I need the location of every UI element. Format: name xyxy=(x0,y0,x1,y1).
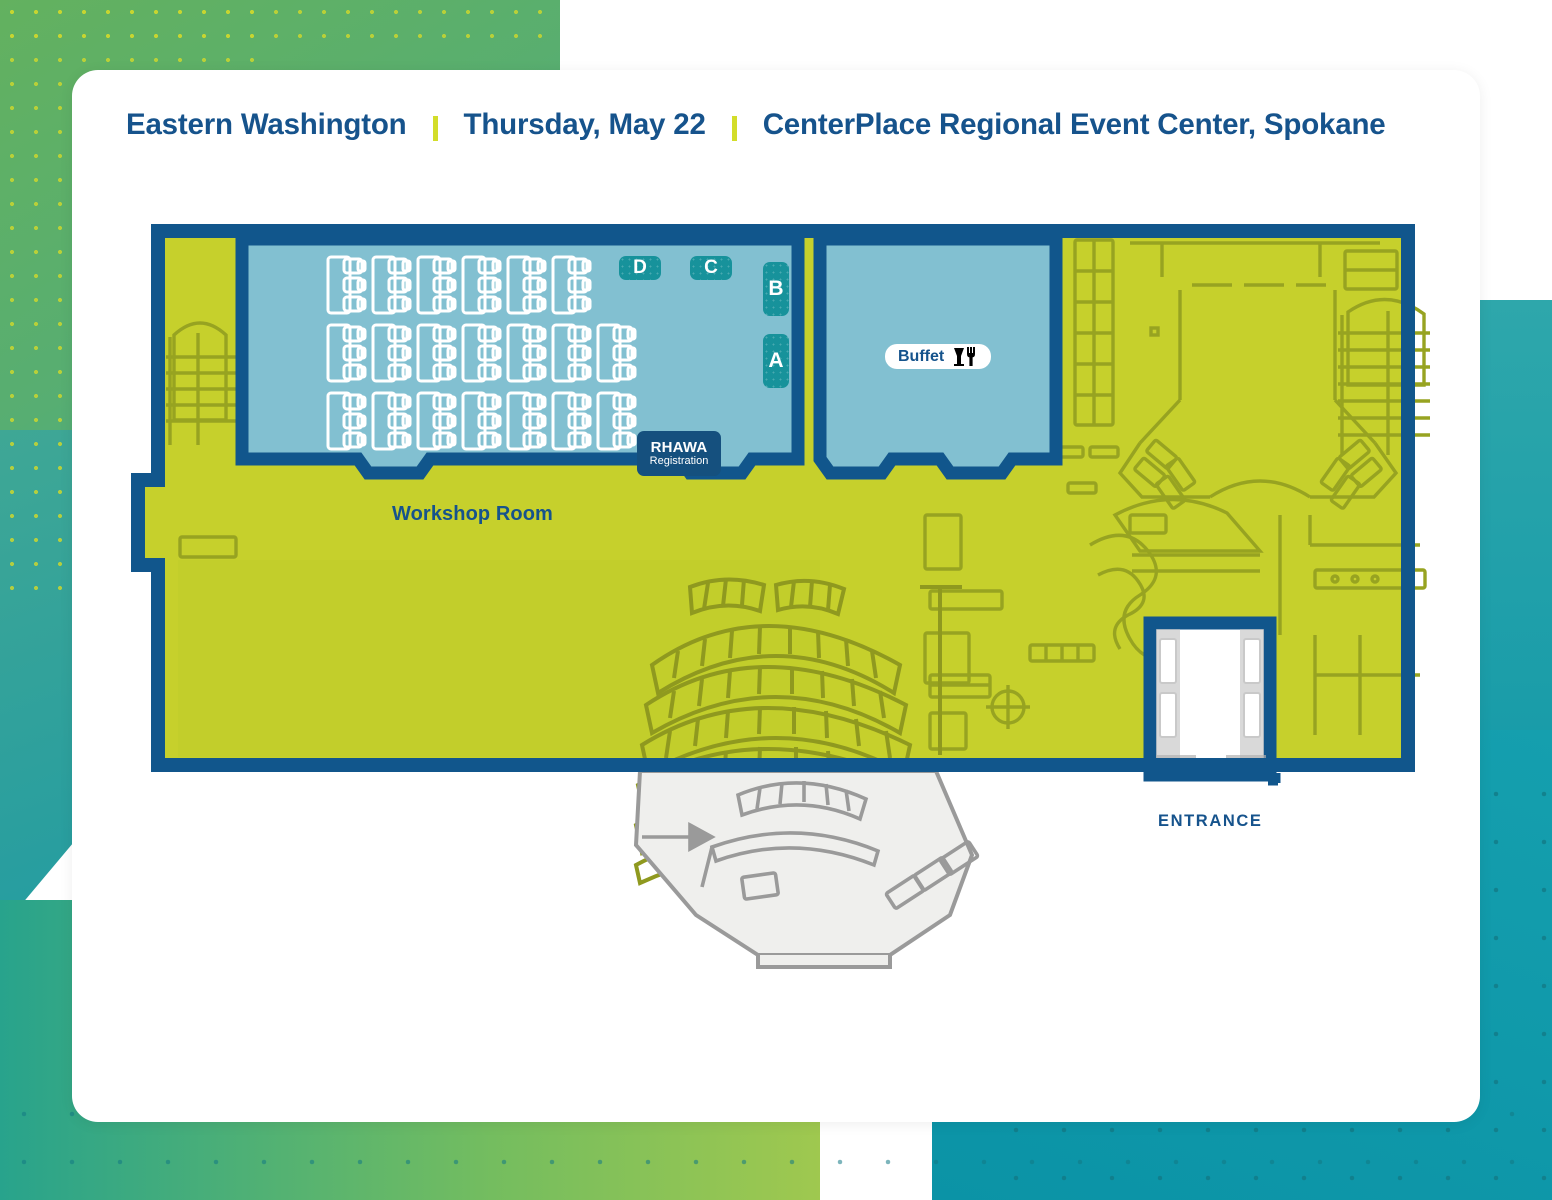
page-title: Eastern Washington Thursday, May 22 Cent… xyxy=(124,108,1387,142)
floor-plan-svg xyxy=(130,215,1430,975)
registration-org: RHAWA xyxy=(651,440,708,456)
header-region: Eastern Washington xyxy=(124,108,409,142)
buffet-marker[interactable]: Buffet xyxy=(885,344,991,369)
floor-plan: D C B A RHAWA Registration Buffet Worksh… xyxy=(130,215,1430,975)
registration-caption: Registration xyxy=(650,456,709,468)
room-tag-c[interactable]: C xyxy=(690,256,732,280)
room-tag-b[interactable]: B xyxy=(763,262,789,316)
wine-glass-and-fork-icon xyxy=(952,346,978,368)
outdoor-terrace xyxy=(636,771,978,967)
rhawa-registration-marker[interactable]: RHAWA Registration xyxy=(637,431,721,476)
room-tag-d[interactable]: D xyxy=(619,256,661,280)
room-tag-a[interactable]: A xyxy=(763,334,789,388)
entrance-label: ENTRANCE xyxy=(1158,812,1262,831)
header-separator-1 xyxy=(433,116,438,141)
header-separator-2 xyxy=(732,116,737,141)
buffet-label: Buffet xyxy=(898,348,944,366)
dot-pattern-top-strip xyxy=(0,0,560,55)
header-venue: CenterPlace Regional Event Center, Spoka… xyxy=(761,108,1388,142)
workshop-room-label: Workshop Room xyxy=(392,503,553,526)
header-date: Thursday, May 22 xyxy=(462,108,708,142)
